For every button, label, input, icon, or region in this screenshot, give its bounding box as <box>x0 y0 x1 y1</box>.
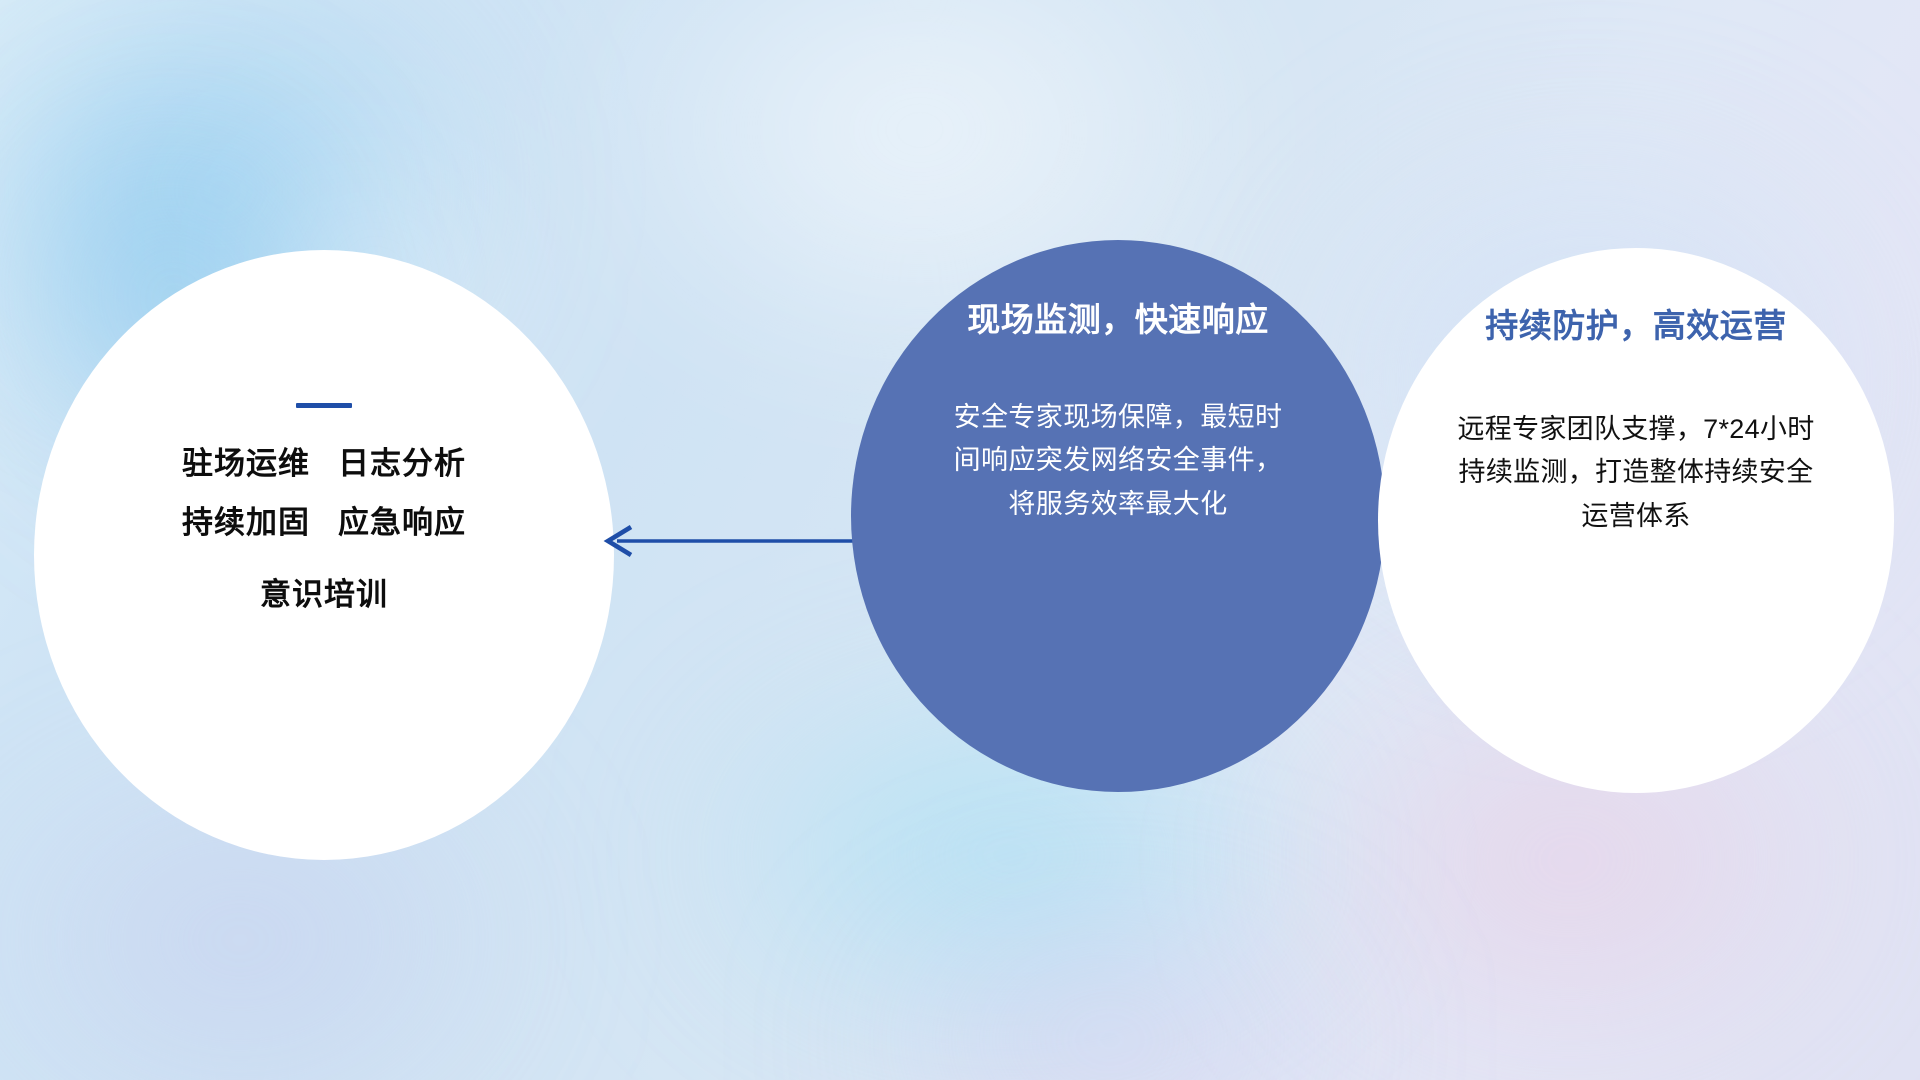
right-card-body: 远程专家团队支撑，7*24小时持续监测，打造整体持续安全运营体系 <box>1446 408 1826 539</box>
right-card-content: 持续防护，高效运营 远程专家团队支撑，7*24小时持续监测，打造整体持续安全运营… <box>1378 248 1894 793</box>
right-card-title: 持续防护，高效运营 <box>1378 306 1894 346</box>
left-card-keyword-row-last: 意识培训 <box>34 577 614 614</box>
middle-card-content: 现场监测，快速响应 安全专家现场保障，最短时间响应突发网络安全事件，将服务效率最… <box>851 240 1385 792</box>
left-card-content: 驻场运维日志分析 持续加固应急响应 意识培训 <box>34 250 614 860</box>
divider-rule-icon <box>296 403 352 408</box>
middle-card-body: 安全专家现场保障，最短时间响应突发网络安全事件，将服务效率最大化 <box>953 396 1283 527</box>
left-card-keyword-row: 持续加固应急响应 <box>34 505 614 542</box>
keyword-label: 应急响应 <box>338 505 466 540</box>
keyword-label: 日志分析 <box>338 446 466 481</box>
left-card-keyword-row: 驻场运维日志分析 <box>34 446 614 483</box>
keyword-label: 驻场运维 <box>182 446 310 481</box>
left-card-ellipse[interactable]: 驻场运维日志分析 持续加固应急响应 意识培训 <box>34 250 614 860</box>
middle-card-ellipse[interactable]: 现场监测，快速响应 安全专家现场保障，最短时间响应突发网络安全事件，将服务效率最… <box>851 240 1385 792</box>
keyword-label: 持续加固 <box>182 505 310 540</box>
slide-canvas: 驻场运维日志分析 持续加固应急响应 意识培训 现场监测，快速响应 安全专家现场保… <box>0 0 1920 1080</box>
left-pointing-arrow-icon <box>595 520 885 562</box>
right-card-ellipse[interactable]: 持续防护，高效运营 远程专家团队支撑，7*24小时持续监测，打造整体持续安全运营… <box>1378 248 1894 793</box>
middle-card-title: 现场监测，快速响应 <box>851 300 1385 340</box>
left-card-keyword-list: 驻场运维日志分析 持续加固应急响应 意识培训 <box>34 446 614 614</box>
